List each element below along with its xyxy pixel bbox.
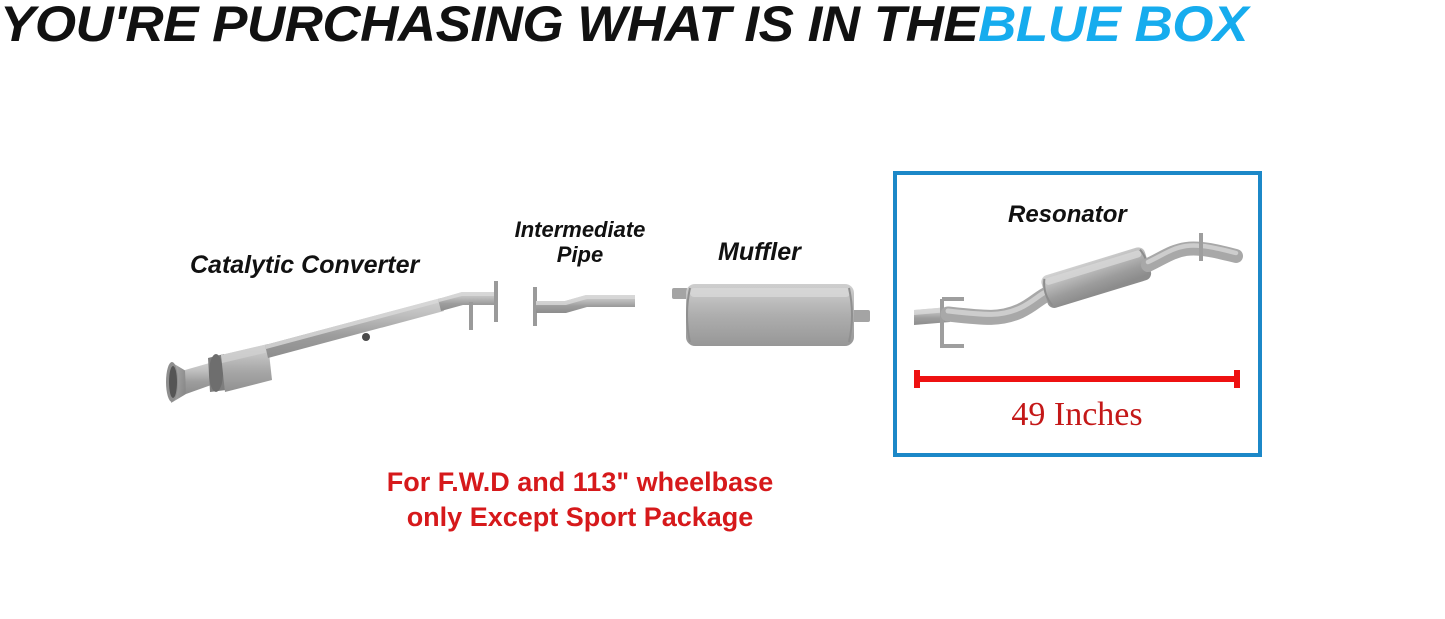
label-resonator: Resonator: [1008, 202, 1127, 229]
dimension-cap-right: [1234, 370, 1240, 388]
fitment-note: For F.W.D and 113" wheelbase only Except…: [275, 465, 885, 534]
headline-banner: YOU'RE PURCHASING WHAT IS IN THE BLUE BO…: [0, 0, 1445, 54]
muffler-art: [672, 284, 870, 346]
dimension-value: 49 Inches: [914, 396, 1240, 434]
dimension-line: [914, 370, 1240, 388]
catalytic-converter-art: [166, 281, 498, 403]
intermediate-pipe-art: [533, 287, 635, 326]
product-diagram-page: YOU'RE PURCHASING WHAT IS IN THE BLUE BO…: [0, 0, 1445, 619]
dimension-bar: [918, 376, 1236, 382]
label-intermediate-pipe: Intermediate Pipe: [492, 218, 668, 267]
headline-text-black: YOU'RE PURCHASING WHAT IS IN THE: [0, 0, 978, 52]
headline-text-blue: BLUE BOX: [978, 0, 1248, 52]
label-catalytic-converter: Catalytic Converter: [190, 251, 419, 279]
label-muffler: Muffler: [718, 238, 801, 266]
